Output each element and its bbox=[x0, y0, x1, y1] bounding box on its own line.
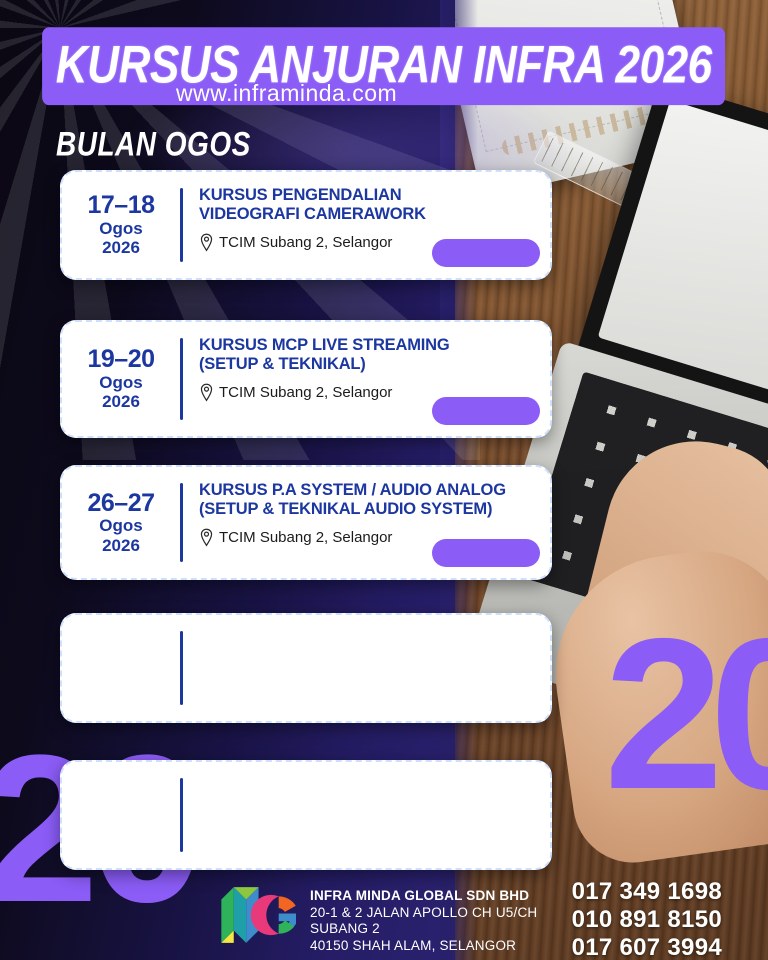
course-venue: TCIM Subang 2, Selangor bbox=[219, 234, 392, 251]
month-heading: BULAN OGOS bbox=[56, 125, 251, 164]
course-action-pill[interactable] bbox=[432, 539, 540, 567]
course-year: 2026 bbox=[102, 392, 140, 412]
phone-number[interactable]: 017 349 1698 bbox=[572, 878, 722, 906]
phone-number[interactable]: 010 891 8150 bbox=[572, 906, 722, 934]
course-card[interactable]: 26–27Ogos2026KURSUS P.A SYSTEM / AUDIO A… bbox=[60, 465, 552, 580]
course-date: 19–20Ogos2026 bbox=[62, 322, 180, 436]
course-date bbox=[62, 615, 180, 721]
course-title-line-1: KURSUS PENGENDALIAN bbox=[199, 186, 538, 205]
website-url[interactable]: www.inframinda.com bbox=[176, 80, 397, 107]
course-card[interactable] bbox=[60, 613, 552, 723]
course-title: KURSUS MCP LIVE STREAMING(SETUP & TEKNIK… bbox=[199, 336, 538, 374]
course-year: 2026 bbox=[102, 238, 140, 258]
address-line-2: SUBANG 2 bbox=[310, 921, 537, 937]
address-line-1: 20-1 & 2 JALAN APOLLO CH U5/CH bbox=[310, 905, 537, 921]
course-card[interactable]: 19–20Ogos2026KURSUS MCP LIVE STREAMING(S… bbox=[60, 320, 552, 438]
course-year: 2026 bbox=[102, 536, 140, 556]
phone-number[interactable]: 017 607 3994 bbox=[572, 934, 722, 960]
course-date: 17–18Ogos2026 bbox=[62, 172, 180, 278]
course-title: KURSUS P.A SYSTEM / AUDIO ANALOG(SETUP &… bbox=[199, 481, 538, 519]
course-title-line-2: (SETUP & TEKNIKAL AUDIO SYSTEM) bbox=[199, 500, 538, 519]
course-card[interactable]: 17–18Ogos2026KURSUS PENGENDALIANVIDEOGRA… bbox=[60, 170, 552, 280]
course-day-range: 26–27 bbox=[87, 490, 154, 516]
course-title-line-2: (SETUP & TEKNIKAL) bbox=[199, 355, 538, 374]
course-card[interactable] bbox=[60, 760, 552, 870]
course-month: Ogos bbox=[99, 219, 142, 239]
course-details: KURSUS P.A SYSTEM / AUDIO ANALOG(SETUP &… bbox=[183, 467, 550, 578]
poster-canvas: 20 20 KURSUS ANJURAN INFRA 2026 www.infr… bbox=[0, 0, 768, 960]
course-action-pill[interactable] bbox=[432, 397, 540, 425]
decor-number-right: 20 bbox=[604, 630, 768, 798]
course-date bbox=[62, 762, 180, 868]
course-title-line-1: KURSUS P.A SYSTEM / AUDIO ANALOG bbox=[199, 481, 538, 500]
phone-list: 017 349 1698010 891 8150017 607 3994 bbox=[572, 878, 722, 960]
course-date: 26–27Ogos2026 bbox=[62, 467, 180, 578]
company-info: INFRA MINDA GLOBAL SDN BHD 20-1 & 2 JALA… bbox=[310, 888, 537, 954]
course-title-line-2: VIDEOGRAFI CAMERAWORK bbox=[199, 205, 538, 224]
course-title: KURSUS PENGENDALIANVIDEOGRAFI CAMERAWORK bbox=[199, 186, 538, 224]
mg-logo-icon bbox=[218, 884, 296, 946]
course-details: KURSUS MCP LIVE STREAMING(SETUP & TEKNIK… bbox=[183, 322, 550, 436]
company-name: INFRA MINDA GLOBAL SDN BHD bbox=[310, 888, 537, 905]
course-details: KURSUS PENGENDALIANVIDEOGRAFI CAMERAWORK… bbox=[183, 172, 550, 278]
address-line-3: 40150 SHAH ALAM, SELANGOR bbox=[310, 938, 537, 954]
location-pin-icon bbox=[199, 528, 214, 547]
course-day-range: 19–20 bbox=[87, 346, 154, 372]
course-month: Ogos bbox=[99, 373, 142, 393]
course-title-line-1: KURSUS MCP LIVE STREAMING bbox=[199, 336, 538, 355]
location-pin-icon bbox=[199, 233, 214, 252]
course-details bbox=[183, 615, 550, 721]
course-day-range: 17–18 bbox=[87, 192, 154, 218]
course-action-pill[interactable] bbox=[432, 239, 540, 267]
course-venue: TCIM Subang 2, Selangor bbox=[219, 529, 392, 546]
course-month: Ogos bbox=[99, 516, 142, 536]
course-details bbox=[183, 762, 550, 868]
course-venue: TCIM Subang 2, Selangor bbox=[219, 384, 392, 401]
location-pin-icon bbox=[199, 383, 214, 402]
